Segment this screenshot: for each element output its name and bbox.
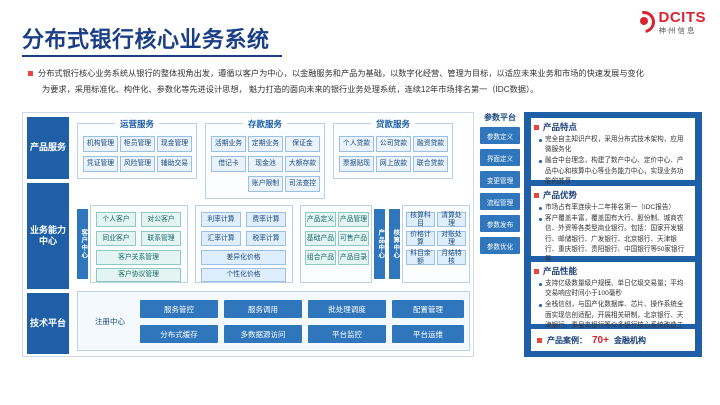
param-cell-4[interactable]: 参数发布 xyxy=(480,215,520,232)
cell-cust-3[interactable]: 联系管理 xyxy=(141,231,181,246)
platform-cell-1[interactable]: 服务调用 xyxy=(224,300,302,318)
group-loan-service: 贷款服务 个人贷款 公司贷款 融资贷款 票据贴现 网上放款 联合贷款 xyxy=(333,123,453,179)
cell-prod-3[interactable]: 可售产品 xyxy=(338,231,369,246)
cell-acct-5[interactable]: 月结特核 xyxy=(437,250,466,265)
square-bullet-icon xyxy=(534,125,539,130)
square-bullet-icon xyxy=(537,338,542,343)
platform-cell-3[interactable]: 配置管理 xyxy=(392,300,464,318)
block-product-features: 产品特点 完全自主知识产权，采用分布式技术架构，应用微服务化 融合中台理念，构建… xyxy=(531,118,695,180)
cell-loan-4[interactable]: 网上放款 xyxy=(376,156,411,172)
cell-op-2[interactable]: 现金管理 xyxy=(157,136,192,152)
performance-item-0: 支持亿级数量级户规模、单日亿级交易量；平均交易响应时间小于100毫秒 xyxy=(539,279,690,299)
square-bullet-icon xyxy=(534,269,539,274)
platform-cell-4[interactable]: 分布式缓存 xyxy=(140,325,218,343)
group-deposit-service: 存款服务 活期业务 定期业务 保证金 借记卡 现金池 大额存款 账户限制 司法查… xyxy=(205,123,325,199)
cell-cust-5[interactable]: 客户协议管理 xyxy=(96,268,181,282)
intro-line-1: 分布式银行核心业务系统从银行的整体视角出发，遵循以客户为中心，以金融服务和产品为… xyxy=(38,69,644,78)
cell-dep-3[interactable]: 借记卡 xyxy=(211,156,246,172)
slide-page: DCITS 神州信息 分布式银行核心业务系统 分布式银行核心业务系统从银行的整体… xyxy=(0,0,720,405)
group-operation-service: 运营服务 机构管理 柜员管理 现金管理 凭证管理 风险管理 辅助交易 xyxy=(77,123,197,179)
cell-cust-0[interactable]: 个人客户 xyxy=(96,212,136,227)
vlabel-product-service: 产品服务 xyxy=(27,117,69,179)
cell-op-4[interactable]: 风险管理 xyxy=(120,156,155,172)
param-cell-2[interactable]: 变更管理 xyxy=(480,171,520,188)
cell-dep-7[interactable]: 司法查控 xyxy=(285,176,320,192)
cell-price-3[interactable]: 税率计算 xyxy=(246,231,286,246)
cell-loan-5[interactable]: 联合贷款 xyxy=(413,156,448,172)
block-product-performance: 产品性能 支持亿级数量级户规模、单日亿级交易量；平均交易响应时间小于100毫秒 … xyxy=(531,262,695,324)
cell-op-1[interactable]: 柜员管理 xyxy=(120,136,155,152)
vlabel-capability-center: 业务能力中心 xyxy=(27,183,69,289)
vlabel-tech-platform: 技术平台 xyxy=(27,293,69,354)
block-header-advantages: 产品优势 xyxy=(531,186,695,202)
cell-prod-2[interactable]: 基础产品 xyxy=(305,231,336,246)
platform-registry-label: 注册中心 xyxy=(84,310,136,332)
vmini-product-center: 产品中心 xyxy=(374,209,385,279)
vmini-accounting-center: 核算中心 xyxy=(389,209,400,279)
block-title-performance: 产品性能 xyxy=(543,265,577,277)
block-title-advantages: 产品优势 xyxy=(543,189,577,201)
cell-acct-2[interactable]: 价格计算 xyxy=(406,231,435,246)
cell-price-4[interactable]: 差异化价格 xyxy=(201,250,286,265)
cell-loan-1[interactable]: 公司贷款 xyxy=(376,136,411,152)
advantage-item-1: 客户覆盖丰富，覆盖国有大行、股份制、城商农信、外资等各类型商业银行。包括：国家开… xyxy=(539,214,690,265)
cell-price-5[interactable]: 个性化价格 xyxy=(201,268,286,282)
vmini-customer-center: 客户中心 xyxy=(77,209,88,279)
param-cell-5[interactable]: 参数优化 xyxy=(480,237,520,254)
platform-cell-0[interactable]: 服务管控 xyxy=(140,300,218,318)
feature-item-0: 完全自主知识产权，采用分布式技术架构，应用微服务化 xyxy=(539,135,690,155)
cell-price-2[interactable]: 汇率计算 xyxy=(201,231,241,246)
group-title-deposit: 存款服务 xyxy=(243,118,287,130)
cell-cust-2[interactable]: 同业客户 xyxy=(96,231,136,246)
cell-dep-6[interactable]: 账户限制 xyxy=(248,176,283,192)
param-cell-1[interactable]: 界面定义 xyxy=(480,149,520,166)
page-title: 分布式银行核心业务系统 xyxy=(22,22,270,54)
block-product-advantages: 产品优势 市场占有率连续十二年排名第一（IDC报告） 客户覆盖丰富，覆盖国有大行… xyxy=(531,186,695,256)
group-tech-platform: 注册中心 服务管控 服务调用 批处理调度 配置管理 分布式缓存 多数据源访问 平… xyxy=(77,291,470,351)
logo-mark-icon xyxy=(633,11,655,33)
cell-loan-0[interactable]: 个人贷款 xyxy=(339,136,374,152)
cell-prod-4[interactable]: 组合产品 xyxy=(305,250,336,265)
cell-prod-1[interactable]: 产品管理 xyxy=(338,212,369,227)
cell-dep-5[interactable]: 大额存款 xyxy=(285,156,320,172)
group-pricing-center: 利率计算 费率计算 汇率计算 税率计算 差异化价格 个性化价格 xyxy=(195,205,293,283)
case-label: 产品案例： xyxy=(547,335,587,346)
vertical-label-column: 产品服务 业务能力中心 技术平台 xyxy=(27,117,69,354)
logo-cn-text: 神州信息 xyxy=(659,27,707,35)
cell-acct-1[interactable]: 清算处理 xyxy=(437,212,466,227)
block-title-features: 产品特点 xyxy=(543,121,577,133)
square-bullet-icon xyxy=(534,193,539,198)
group-accounting-center: 核算科目 清算处理 价格计算 对账处理 科目余额 月结特核 xyxy=(402,205,470,283)
cell-cust-4[interactable]: 客户关系管理 xyxy=(96,250,181,265)
block-header-features: 产品特点 xyxy=(531,118,695,134)
param-cell-0[interactable]: 参数定义 xyxy=(480,127,520,144)
block-header-performance: 产品性能 xyxy=(531,262,695,278)
block-body-advantages: 市场占有率连续十二年排名第一（IDC报告） 客户覆盖丰富，覆盖国有大行、股份制、… xyxy=(531,202,695,270)
title-underline xyxy=(22,55,282,57)
cell-loan-2[interactable]: 融资贷款 xyxy=(413,136,448,152)
cell-cust-1[interactable]: 对公客户 xyxy=(141,212,181,227)
logo-en-text: DCITS xyxy=(659,10,707,25)
case-suffix: 金融机构 xyxy=(614,335,646,346)
cell-dep-0[interactable]: 活期业务 xyxy=(211,136,246,152)
platform-cell-2[interactable]: 批处理调度 xyxy=(308,300,386,318)
cell-loan-3[interactable]: 票据贴现 xyxy=(339,156,374,172)
feature-item-1: 融合中台理念，构建了数产中心、定价中心、产品中心和核算中心等业务能力中心，实现业… xyxy=(539,156,690,187)
group-customer-center: 个人客户 对公客户 同业客户 联系管理 客户关系管理 客户协议管理 xyxy=(90,205,188,283)
group-title-operation: 运营服务 xyxy=(115,118,159,130)
param-platform-column: 参数平台 参数定义 界面定义 变更管理 流程管理 参数发布 参数优化 xyxy=(480,112,520,259)
cell-price-1[interactable]: 费率计算 xyxy=(246,212,286,227)
advantage-item-0: 市场占有率连续十二年排名第一（IDC报告） xyxy=(539,203,690,213)
company-logo: DCITS 神州信息 xyxy=(633,10,707,35)
cell-acct-4[interactable]: 科目余额 xyxy=(406,250,435,265)
features-panel: 产品特点 完全自主知识产权，采用分布式技术架构，应用微服务化 融合中台理念，构建… xyxy=(524,112,702,357)
platform-cell-7[interactable]: 平台运维 xyxy=(392,325,464,343)
intro-bullet-icon xyxy=(28,71,33,76)
cell-op-5[interactable]: 辅助交易 xyxy=(157,156,192,172)
architecture-diagram: 产品服务 业务能力中心 技术平台 运营服务 机构管理 柜员管理 现金管理 凭证管… xyxy=(22,112,474,357)
group-product-center: 产品定义 产品管理 基础产品 可售产品 组合产品 产品目录 xyxy=(300,205,372,283)
cell-prod-5[interactable]: 产品目录 xyxy=(338,250,369,265)
cell-op-3[interactable]: 凭证管理 xyxy=(83,156,118,172)
intro-line-2: 为要求，采用标准化、构件化、参数化等先进设计思想， 魁力打造的面向未来的银行业务… xyxy=(42,85,538,94)
case-summary: 产品案例： 70+ 金融机构 xyxy=(531,329,695,351)
cell-dep-2[interactable]: 保证金 xyxy=(285,136,320,152)
cell-price-0[interactable]: 利率计算 xyxy=(201,212,241,227)
cell-prod-0[interactable]: 产品定义 xyxy=(305,212,336,227)
group-title-loan: 贷款服务 xyxy=(371,118,415,130)
cell-dep-1[interactable]: 定期业务 xyxy=(248,136,283,152)
cell-acct-0[interactable]: 核算科目 xyxy=(406,212,435,227)
cell-acct-3[interactable]: 对账处理 xyxy=(437,231,466,246)
param-platform-title: 参数平台 xyxy=(480,112,520,123)
cell-op-0[interactable]: 机构管理 xyxy=(83,136,118,152)
platform-cell-5[interactable]: 多数据源访问 xyxy=(224,325,302,343)
param-cell-3[interactable]: 流程管理 xyxy=(480,193,520,210)
case-number: 70+ xyxy=(592,335,609,346)
cell-dep-4[interactable]: 现金池 xyxy=(248,156,283,172)
platform-cell-6[interactable]: 平台监控 xyxy=(308,325,386,343)
intro-paragraph: 分布式银行核心业务系统从银行的整体视角出发，遵循以客户为中心，以金融服务和产品为… xyxy=(28,66,690,97)
